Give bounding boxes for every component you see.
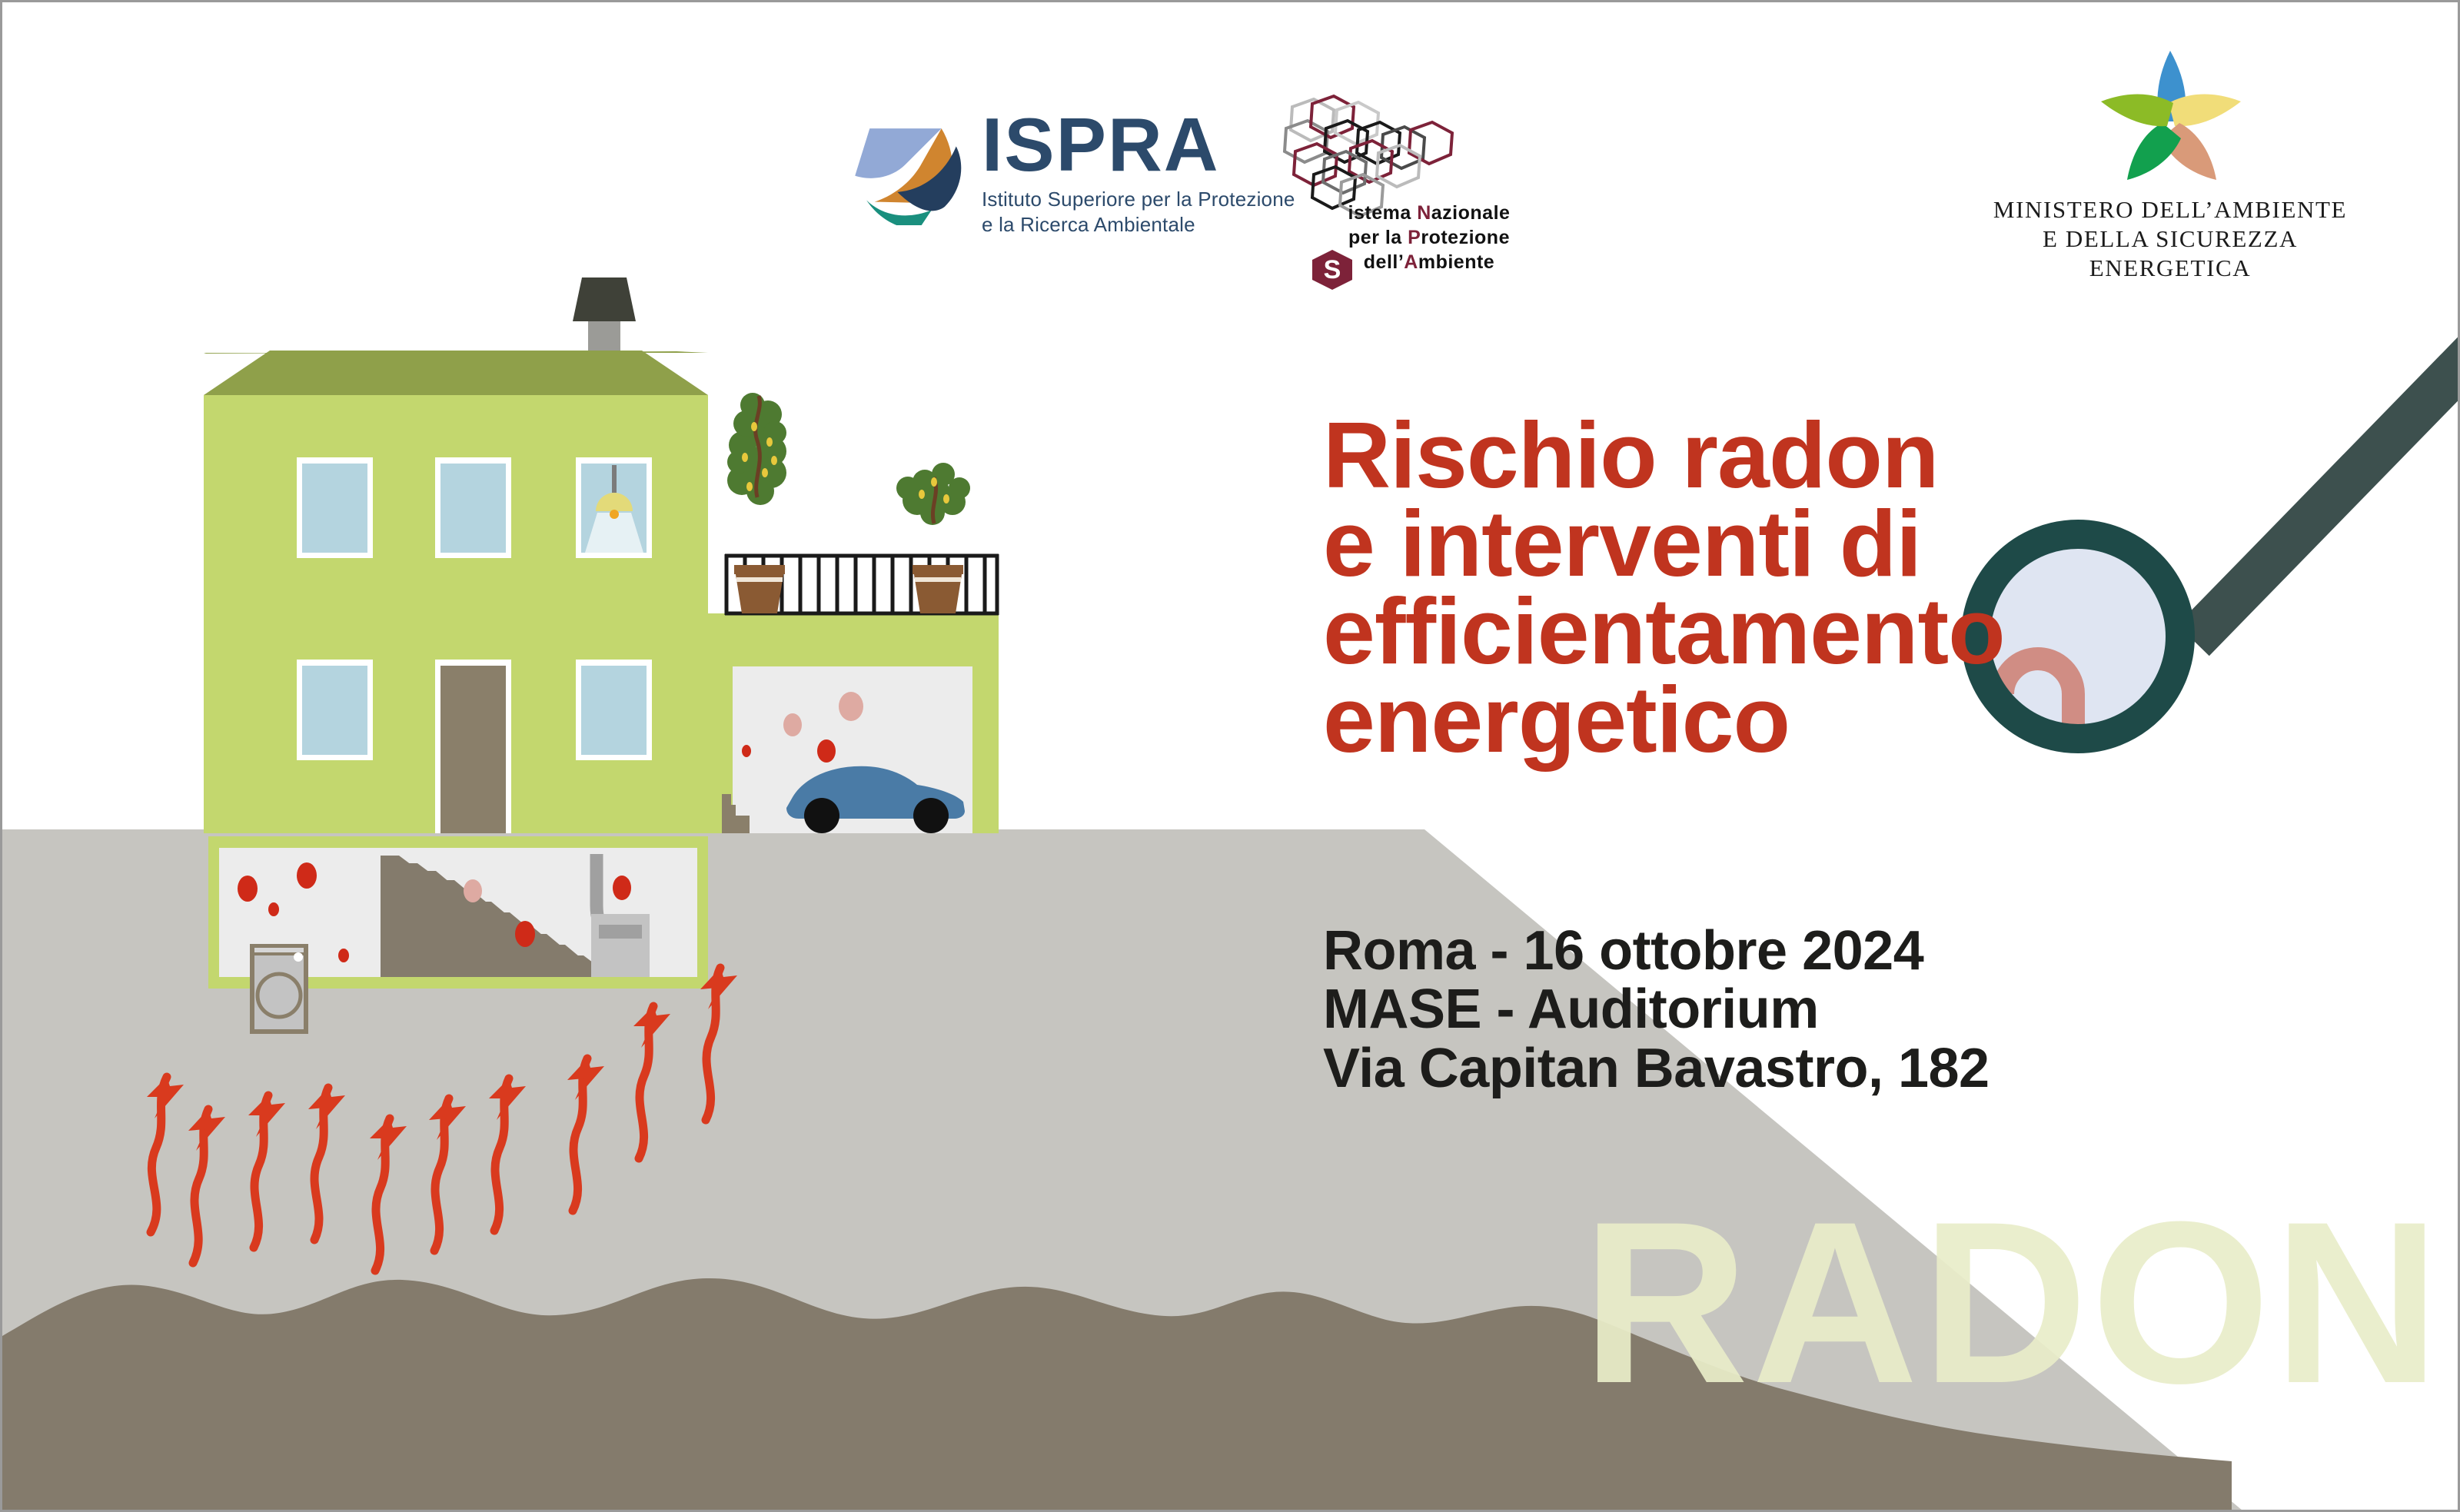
logo-snpa: S istema Nazionale per la Protezione del… (1263, 87, 1586, 271)
snpa-line2-pre: per la (1348, 227, 1408, 248)
potted-plant-right (896, 463, 970, 613)
logo-mase: MINISTERO DELL’AMBIENTE E DELLA SICUREZZ… (1970, 45, 2370, 282)
radon-particle (613, 876, 631, 900)
radon-particle (515, 921, 535, 947)
snpa-line-1: istema Nazionale (1275, 201, 1583, 225)
radon-particle (297, 862, 317, 889)
radon-particle (268, 902, 279, 916)
lamp-bulb (610, 510, 619, 519)
radon-particle (464, 879, 482, 902)
house-door (440, 666, 506, 833)
washing-machine (250, 944, 308, 1034)
title-line-3: efficientamento (1323, 587, 2138, 676)
window-glass-2 (440, 464, 506, 553)
title-line-4: energetico (1323, 676, 2138, 764)
roof-poly (204, 351, 708, 395)
title-line-2: e interventi di (1323, 500, 2138, 588)
event-title: Rischio radon e interventi di efficienta… (1323, 411, 2138, 764)
window-glass-5 (581, 666, 647, 755)
detail-address: Via Capitan Bavastro, 182 (1323, 1039, 2169, 1098)
snpa-line-2: per la Protezione (1275, 225, 1583, 250)
chimney-cap (573, 277, 636, 321)
radon-particle (338, 949, 349, 962)
radon-particle (817, 739, 836, 763)
poster-canvas: ISPRA Istituto Superiore per la Protezio… (0, 0, 2460, 1512)
radon-particle (742, 745, 751, 757)
logo-ispra: ISPRA Istituto Superiore per la Protezio… (848, 110, 1295, 237)
snpa-line2-post: rotezione (1421, 227, 1510, 248)
snpa-line2-hl: P (1408, 227, 1421, 248)
ispra-wordmark: ISPRA (982, 110, 1295, 179)
radon-particle (783, 713, 802, 736)
snpa-line1-hl: N (1417, 202, 1431, 224)
snpa-line-3: dell’Ambiente (1275, 250, 1583, 274)
snpa-line1-post: azionale (1431, 202, 1511, 224)
lamp-cord (612, 465, 617, 493)
title-line-1: Rischio radon (1323, 411, 2138, 500)
detail-location-date: Roma - 16 ottobre 2024 (1323, 922, 2169, 980)
snpa-wordmark: istema Nazionale per la Protezione dell’… (1275, 201, 1583, 274)
potted-plant-left (727, 393, 786, 613)
radon-watermark: RADON (1582, 1198, 2443, 1406)
snpa-line3-pre: dell’ (1364, 251, 1405, 273)
terrace-slab (708, 613, 999, 630)
snpa-line1-pre: istema (1348, 202, 1418, 224)
snpa-line3-hl: A (1404, 251, 1418, 273)
magnifier-handle (2193, 333, 2460, 640)
ispra-subtitle: Istituto Superiore per la Protezione e l… (982, 187, 1295, 237)
boiler (591, 914, 650, 977)
logo-bar: ISPRA Istituto Superiore per la Protezio… (2, 2, 2460, 279)
ispra-mark-icon (848, 110, 963, 225)
detail-venue: MASE - Auditorium (1323, 980, 2169, 1038)
mase-wordmark: MINISTERO DELL’AMBIENTE E DELLA SICUREZZ… (1970, 195, 2370, 282)
radon-particle (839, 692, 863, 721)
window-glass-4 (302, 666, 367, 755)
window-glass-1 (302, 464, 367, 553)
radon-particle (238, 876, 258, 902)
event-details: Roma - 16 ottobre 2024 MASE - Auditorium… (1323, 922, 2169, 1098)
mase-name-line1: MINISTERO DELL’AMBIENTE (1970, 195, 2370, 224)
ispra-subtitle-line2: e la Ricerca Ambientale (982, 212, 1295, 238)
ispra-subtitle-line1: Istituto Superiore per la Protezione (982, 187, 1295, 212)
mase-star-icon (2093, 45, 2247, 191)
mase-name-line2: E DELLA SICUREZZA ENERGETICA (1970, 224, 2370, 283)
snpa-line3-post: mbiente (1418, 251, 1494, 273)
boiler-panel (599, 925, 642, 939)
